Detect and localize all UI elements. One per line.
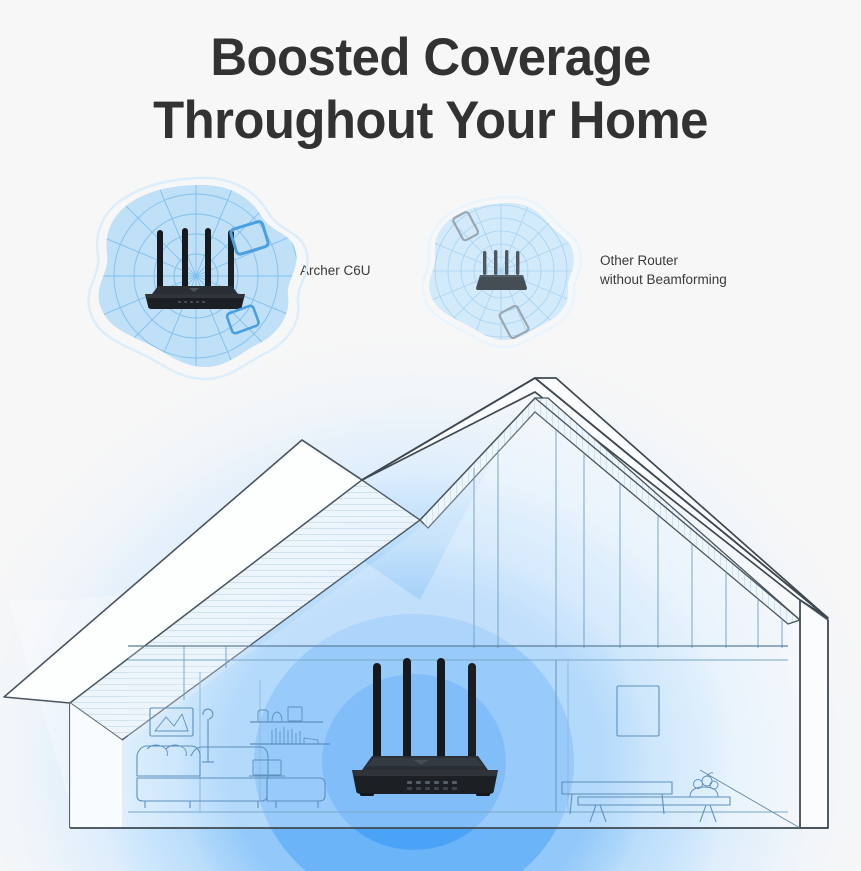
house-right-wall: [800, 600, 828, 828]
coverage-grid-other: [421, 191, 581, 351]
router-front-bevel: [352, 770, 498, 776]
illustration-canvas: [0, 0, 861, 871]
coverage-diagram-other-router: [421, 191, 581, 351]
coverage-infographic: Boosted Coverage Throughout Your Home Ar…: [0, 0, 861, 871]
router-foot-right: [476, 793, 490, 796]
router-foot-left: [360, 793, 374, 796]
